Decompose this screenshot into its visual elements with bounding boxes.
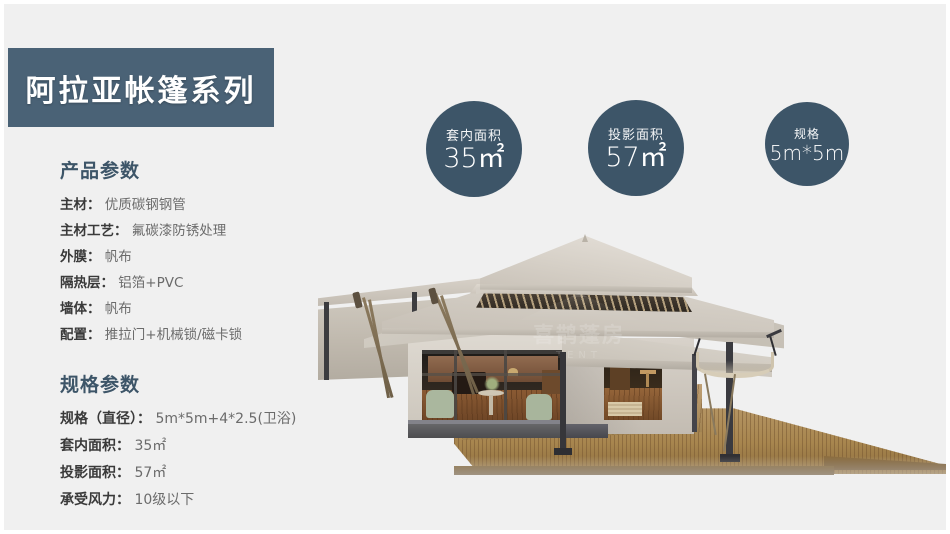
spec-label: 主材：: [60, 197, 101, 213]
specification-parameters-heading: 规格参数: [60, 370, 296, 397]
door-rail: [422, 373, 564, 376]
badge-projected-area: 投影面积 57㎡: [588, 100, 684, 196]
spec-row: 隔热层： 铝箔+PVC: [60, 270, 242, 296]
spec-row: 套内面积： 35㎡: [60, 433, 296, 460]
badge-value: 5m*5m: [770, 143, 844, 164]
interior-table-leg: [489, 395, 493, 415]
spec-value: 帆布: [105, 301, 132, 317]
spec-value: 氟碳漆防锈处理: [132, 223, 227, 239]
badge-caption: 投影面积: [608, 124, 664, 143]
product-parameters-heading: 产品参数: [60, 156, 242, 183]
product-parameters-section: 产品参数 主材： 优质碳钢钢管 主材工艺： 氟碳漆防锈处理 外膜： 帆布 隔热层…: [60, 156, 242, 348]
brand-watermark: 喜鹊蓬房 TENT: [464, 286, 694, 368]
spec-value: 5m*5m+4*2.5(卫浴): [155, 411, 296, 427]
interior-armchair: [426, 390, 454, 418]
badge-dimensions: 规格 5m*5m: [765, 102, 849, 186]
tent-plinth-top: [408, 420, 566, 424]
spec-row: 配置： 推拉门+机械锁/磁卡锁: [60, 322, 242, 348]
watermark-text-cn: 喜鹊蓬房: [533, 319, 625, 349]
watermark-text-en: TENT: [556, 350, 602, 361]
spec-row: 主材： 优质碳钢钢管: [60, 192, 242, 218]
spec-label: 套内面积：: [60, 438, 130, 454]
product-spec-page: 阿拉亚帐篷系列 产品参数 主材： 优质碳钢钢管 主材工艺： 氟碳漆防锈处理 外膜…: [0, 0, 950, 534]
spec-label: 外膜：: [60, 249, 101, 265]
badge-caption: 规格: [794, 125, 820, 142]
badge-caption: 套内面积: [446, 125, 502, 144]
spec-value: 帆布: [105, 249, 132, 265]
specification-parameters-section: 规格参数 规格（直径）： 5m*5m+4*2.5(卫浴) 套内面积： 35㎡ 投…: [60, 370, 296, 514]
interior-armchair: [526, 394, 552, 420]
post-base: [554, 448, 572, 455]
interior-stool-leg: [646, 373, 649, 387]
spec-value: 优质碳钢钢管: [105, 197, 186, 213]
door-mullion: [454, 350, 457, 422]
spec-row: 外膜： 帆布: [60, 244, 242, 270]
badge-interior-area: 套内面积 35㎡: [426, 101, 522, 197]
tent-plinth: [566, 424, 608, 438]
spec-row: 承受风力： 10级以下: [60, 487, 296, 514]
spec-value: 铝箔+PVC: [118, 275, 183, 291]
badge-value: 35㎡: [443, 145, 504, 173]
spec-label: 墙体：: [60, 301, 101, 317]
spec-label: 规格（直径）：: [60, 411, 151, 427]
spec-label: 隔热层：: [60, 275, 114, 291]
spec-value: 57㎡: [134, 465, 166, 481]
spec-label: 主材工艺：: [60, 223, 128, 239]
interior-chair: [610, 366, 630, 390]
spec-row: 规格（直径）： 5m*5m+4*2.5(卫浴): [60, 406, 296, 433]
tent-plinth: [408, 422, 566, 438]
spec-label: 配置：: [60, 327, 101, 343]
badge-value: 57㎡: [605, 144, 666, 172]
interior-rug: [608, 402, 642, 416]
annex-post: [324, 302, 329, 380]
spec-value: 35㎡: [134, 438, 166, 454]
series-title-banner: 阿拉亚帐篷系列: [8, 48, 274, 127]
spec-label: 投影面积：: [60, 465, 130, 481]
spec-value: 10级以下: [134, 492, 194, 508]
upper-roof-front-slope: [480, 236, 692, 292]
spec-value: 推拉门+机械锁/磁卡锁: [105, 327, 242, 343]
spec-row: 墙体： 帆布: [60, 296, 242, 322]
spec-row: 主材工艺： 氟碳漆防锈处理: [60, 218, 242, 244]
watermark-roof-icon: [513, 293, 645, 323]
spec-row: 投影面积： 57㎡: [60, 460, 296, 487]
spec-label: 承受风力：: [60, 492, 130, 508]
series-title-text: 阿拉亚帐篷系列: [26, 66, 257, 110]
ground-fade: [304, 456, 950, 534]
